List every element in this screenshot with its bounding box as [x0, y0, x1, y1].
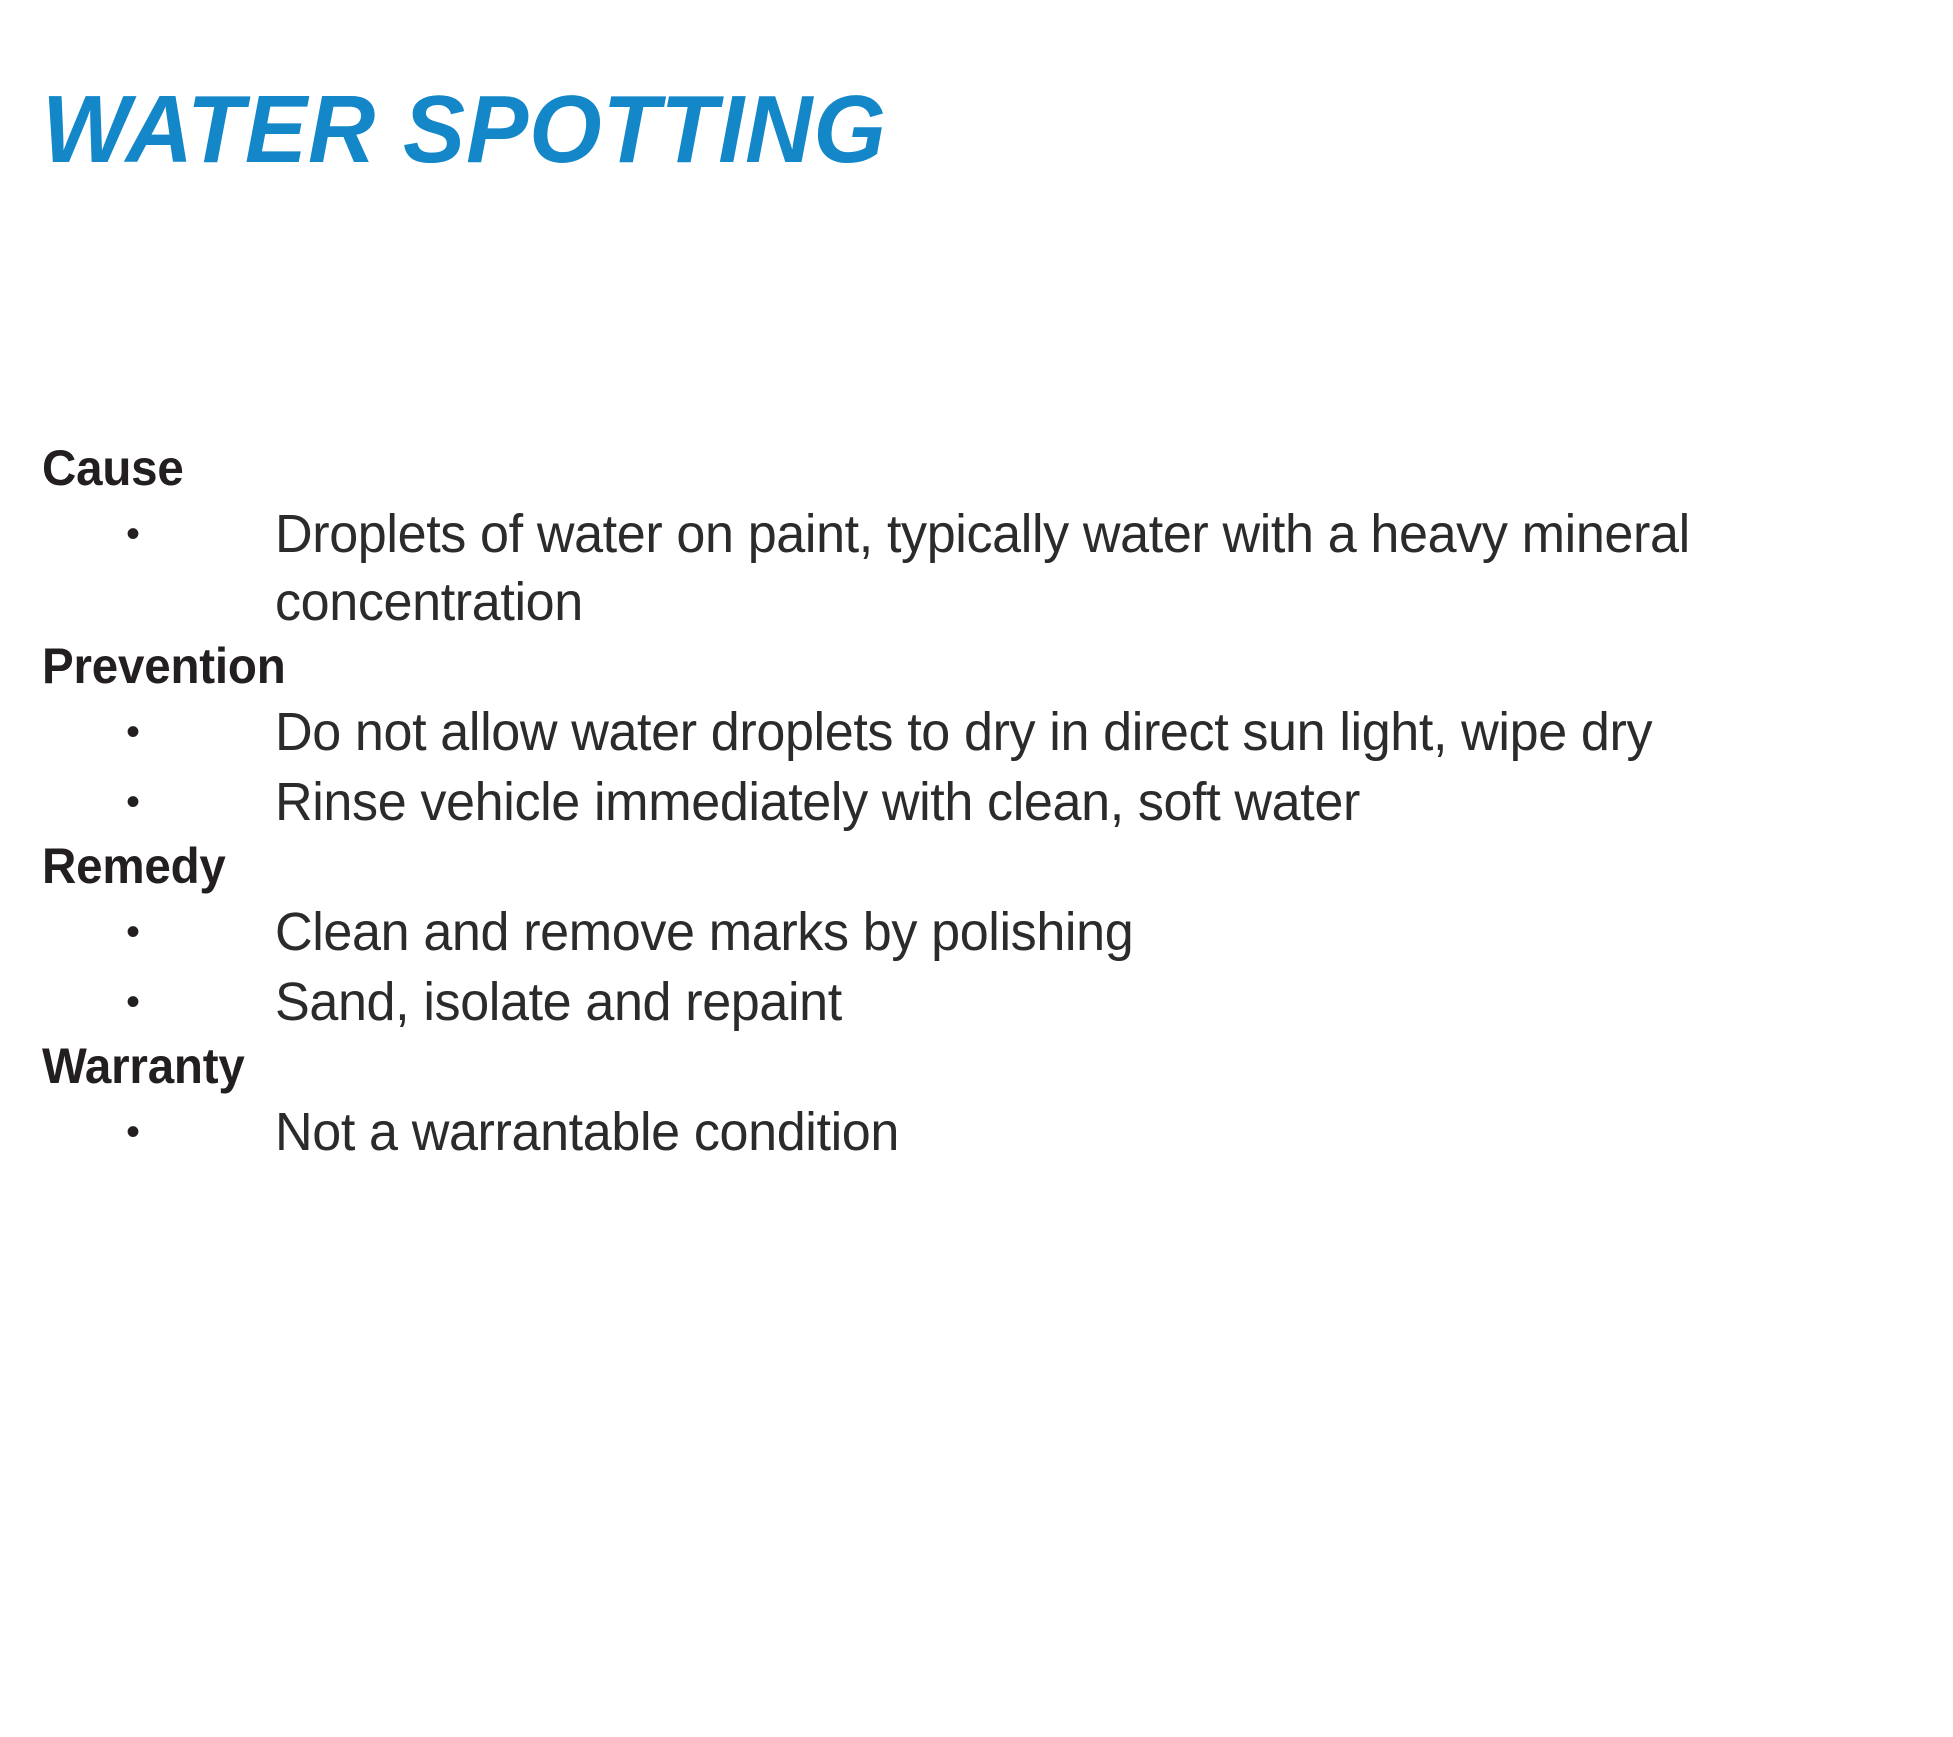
list-item-text: Not a warrantable condition — [275, 1098, 1875, 1166]
section-cause: Cause • Droplets of water on paint, typi… — [0, 440, 1953, 636]
bullet-list-warranty: • Not a warrantable condition — [0, 1098, 1953, 1166]
section-prevention: Prevention • Do not allow water droplets… — [0, 638, 1953, 836]
page-title: WATER SPOTTING — [42, 78, 887, 182]
section-warranty: Warranty • Not a warrantable condition — [0, 1038, 1953, 1166]
section-heading-cause: Cause — [42, 440, 1857, 496]
bullet-list-remedy: • Clean and remove marks by polishing • … — [0, 898, 1953, 1036]
section-heading-warranty: Warranty — [42, 1038, 1857, 1094]
list-item: • Droplets of water on paint, typically … — [0, 500, 1953, 636]
list-item: • Clean and remove marks by polishing — [0, 898, 1953, 966]
list-item-text: Do not allow water droplets to dry in di… — [275, 698, 1875, 766]
section-remedy: Remedy • Clean and remove marks by polis… — [0, 838, 1953, 1036]
section-heading-remedy: Remedy — [42, 838, 1857, 894]
list-item-text: Sand, isolate and repaint — [275, 968, 1875, 1036]
list-item-text: Rinse vehicle immediately with clean, so… — [275, 768, 1875, 836]
bullet-point-icon: • — [126, 898, 146, 966]
list-item-text: Clean and remove marks by polishing — [275, 898, 1875, 966]
list-item-text: Droplets of water on paint, typically wa… — [275, 500, 1875, 636]
page-canvas: WATER SPOTTING Cause • Droplets of water… — [0, 0, 1953, 1737]
section-heading-prevention: Prevention — [42, 638, 1857, 694]
bullet-list-prevention: • Do not allow water droplets to dry in … — [0, 698, 1953, 836]
bullet-point-icon: • — [126, 768, 146, 836]
bullet-point-icon: • — [126, 698, 146, 766]
bullet-point-icon: • — [126, 1098, 146, 1166]
list-item: • Not a warrantable condition — [0, 1098, 1953, 1166]
list-item: • Sand, isolate and repaint — [0, 968, 1953, 1036]
bullet-point-icon: • — [126, 500, 146, 568]
list-item: • Do not allow water droplets to dry in … — [0, 698, 1953, 766]
list-item: • Rinse vehicle immediately with clean, … — [0, 768, 1953, 836]
bullet-point-icon: • — [126, 968, 146, 1036]
bullet-list-cause: • Droplets of water on paint, typically … — [0, 500, 1953, 636]
content-body: Cause • Droplets of water on paint, typi… — [0, 440, 1953, 1168]
